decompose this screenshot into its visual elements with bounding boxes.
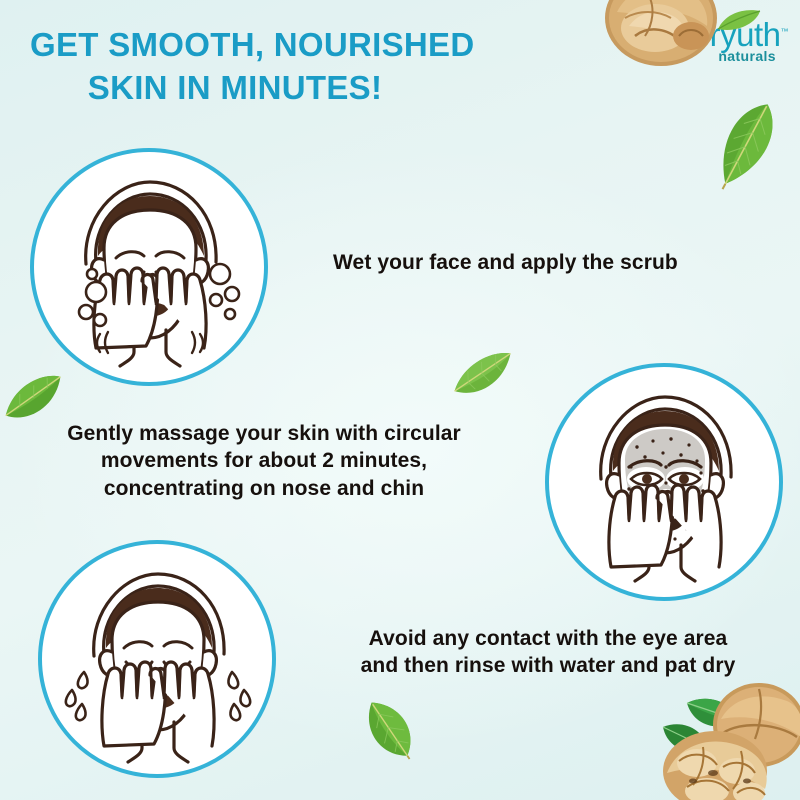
step-3-text: Avoid any contact with the eye area and … bbox=[318, 625, 778, 680]
leaf-icon bbox=[348, 695, 432, 765]
walnut-cluster-icon bbox=[591, 675, 800, 800]
poster-canvas: GET SMOOTH, NOURISHED SKIN IN MINUTES! e… bbox=[0, 0, 800, 800]
step-1-text: Wet your face and apply the scrub bbox=[333, 249, 773, 276]
step-2-illustration bbox=[545, 363, 783, 601]
trademark-symbol: ™ bbox=[781, 27, 789, 36]
leaf-icon bbox=[445, 345, 523, 407]
leaf-icon bbox=[700, 95, 792, 195]
water-droplets-left bbox=[66, 672, 88, 720]
step-3-illustration bbox=[38, 540, 276, 778]
headline-line-2: SKIN IN MINUTES! bbox=[30, 67, 550, 110]
step-2-line-1: Gently massage your skin with circular bbox=[67, 422, 461, 445]
walnut-top-icon bbox=[595, 0, 730, 71]
step-1-illustration bbox=[30, 148, 268, 386]
step-3-line-2: and then rinse with water and pat dry bbox=[361, 654, 736, 677]
step-2-line-3: concentrating on nose and chin bbox=[104, 477, 424, 500]
step-3-line-1: Avoid any contact with the eye area bbox=[369, 627, 728, 650]
headline-line-1: GET SMOOTH, NOURISHED bbox=[30, 24, 550, 67]
water-droplets-right bbox=[228, 672, 250, 720]
step-2-text: Gently massage your skin with circular m… bbox=[34, 420, 494, 502]
step-2-line-2: movements for about 2 minutes, bbox=[101, 449, 427, 472]
page-title: GET SMOOTH, NOURISHED SKIN IN MINUTES! bbox=[30, 24, 550, 110]
